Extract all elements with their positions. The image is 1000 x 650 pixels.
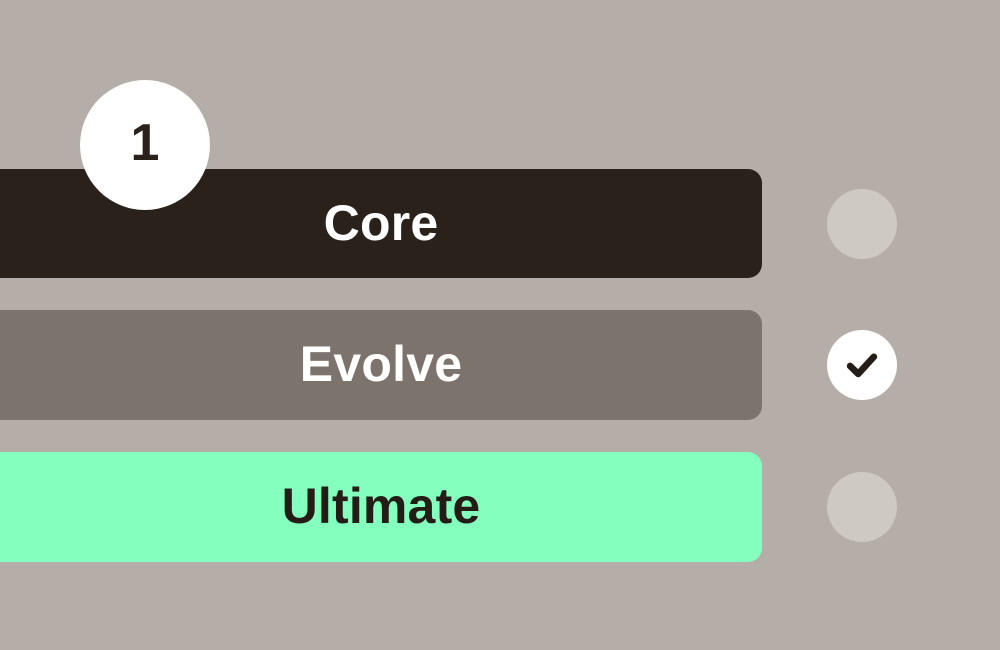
plan-label-evolve: Evolve xyxy=(300,339,462,389)
plan-select-circle-evolve[interactable] xyxy=(827,330,897,400)
checkmark-icon xyxy=(843,346,881,384)
plan-label-ultimate: Ultimate xyxy=(282,481,481,531)
plan-option-row-evolve: Evolve xyxy=(0,310,1000,420)
plan-bar-evolve[interactable]: Evolve xyxy=(0,310,762,420)
plan-select-circle-core[interactable] xyxy=(827,189,897,259)
plan-selector-screen: Core Evolve Ultimate 1 xyxy=(0,0,1000,650)
plan-label-core: Core xyxy=(324,198,439,248)
plan-select-circle-ultimate[interactable] xyxy=(827,472,897,542)
step-number-badge: 1 xyxy=(80,80,210,210)
plan-bar-ultimate[interactable]: Ultimate xyxy=(0,452,762,562)
step-badge-number: 1 xyxy=(131,117,160,169)
plan-option-row-ultimate: Ultimate xyxy=(0,452,1000,562)
